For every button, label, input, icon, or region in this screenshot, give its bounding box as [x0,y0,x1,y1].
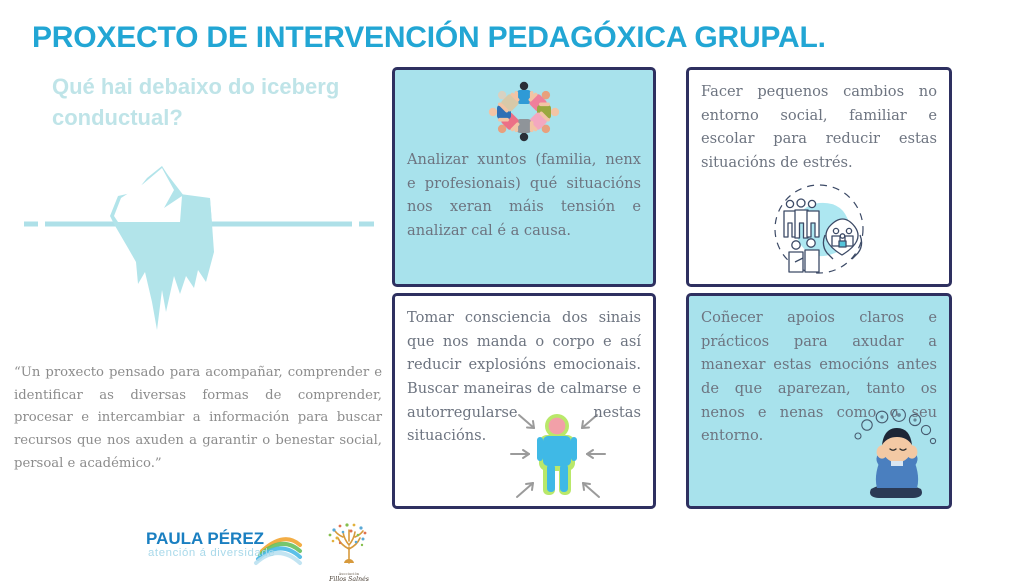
iceberg-underwater-shape [114,224,214,330]
card-analizar-xuntos[interactable]: Analizar xuntos (familia, nenx e profesi… [392,67,656,287]
iceberg-illustration [14,152,386,367]
slide-root: PROXECTO DE INTERVENCIÓN PEDAGÓXICA GRUP… [0,0,1024,576]
quote-text: “Un proxecto pensado para acompañar, com… [14,362,382,476]
logo-row: PAULA PÉREZ atención á diversidade [146,521,386,576]
card-text: Tomar consciencia dos sinais que nos man… [407,306,641,448]
card-text: Analizar xuntos (familia, nenx e profesi… [407,148,641,243]
card-conecer-apoios[interactable]: Coñecer apoios claros e prácticos para a… [686,293,952,509]
card-text: Facer pequenos cambios no entorno social… [701,80,937,175]
page-title: PROXECTO DE INTERVENCIÓN PEDAGÓXICA GRUP… [32,21,826,55]
paula-perez-logo: PAULA PÉREZ atención á diversidade [146,525,306,572]
paula-logo-line2: atención á diversidade [148,547,275,559]
card-text: Coñecer apoios claros e prácticos para a… [701,306,937,448]
tree-logo-line2: Fillos Salnés [316,576,382,583]
family-community-hands-icon [763,179,875,282]
association-tree-logo: Asociación Fillos Salnés [316,521,382,583]
circle-of-people-icon [472,76,576,151]
card-pequenos-cambios[interactable]: Facer pequenos cambios no entorno social… [686,67,952,287]
card-sinais-do-corpo[interactable]: Tomar consciencia dos sinais que nos man… [392,293,656,509]
paula-logo-line1: PAULA PÉREZ [146,529,264,548]
subtitle: Qué hai debaixo do iceberg conductual? [52,71,382,133]
